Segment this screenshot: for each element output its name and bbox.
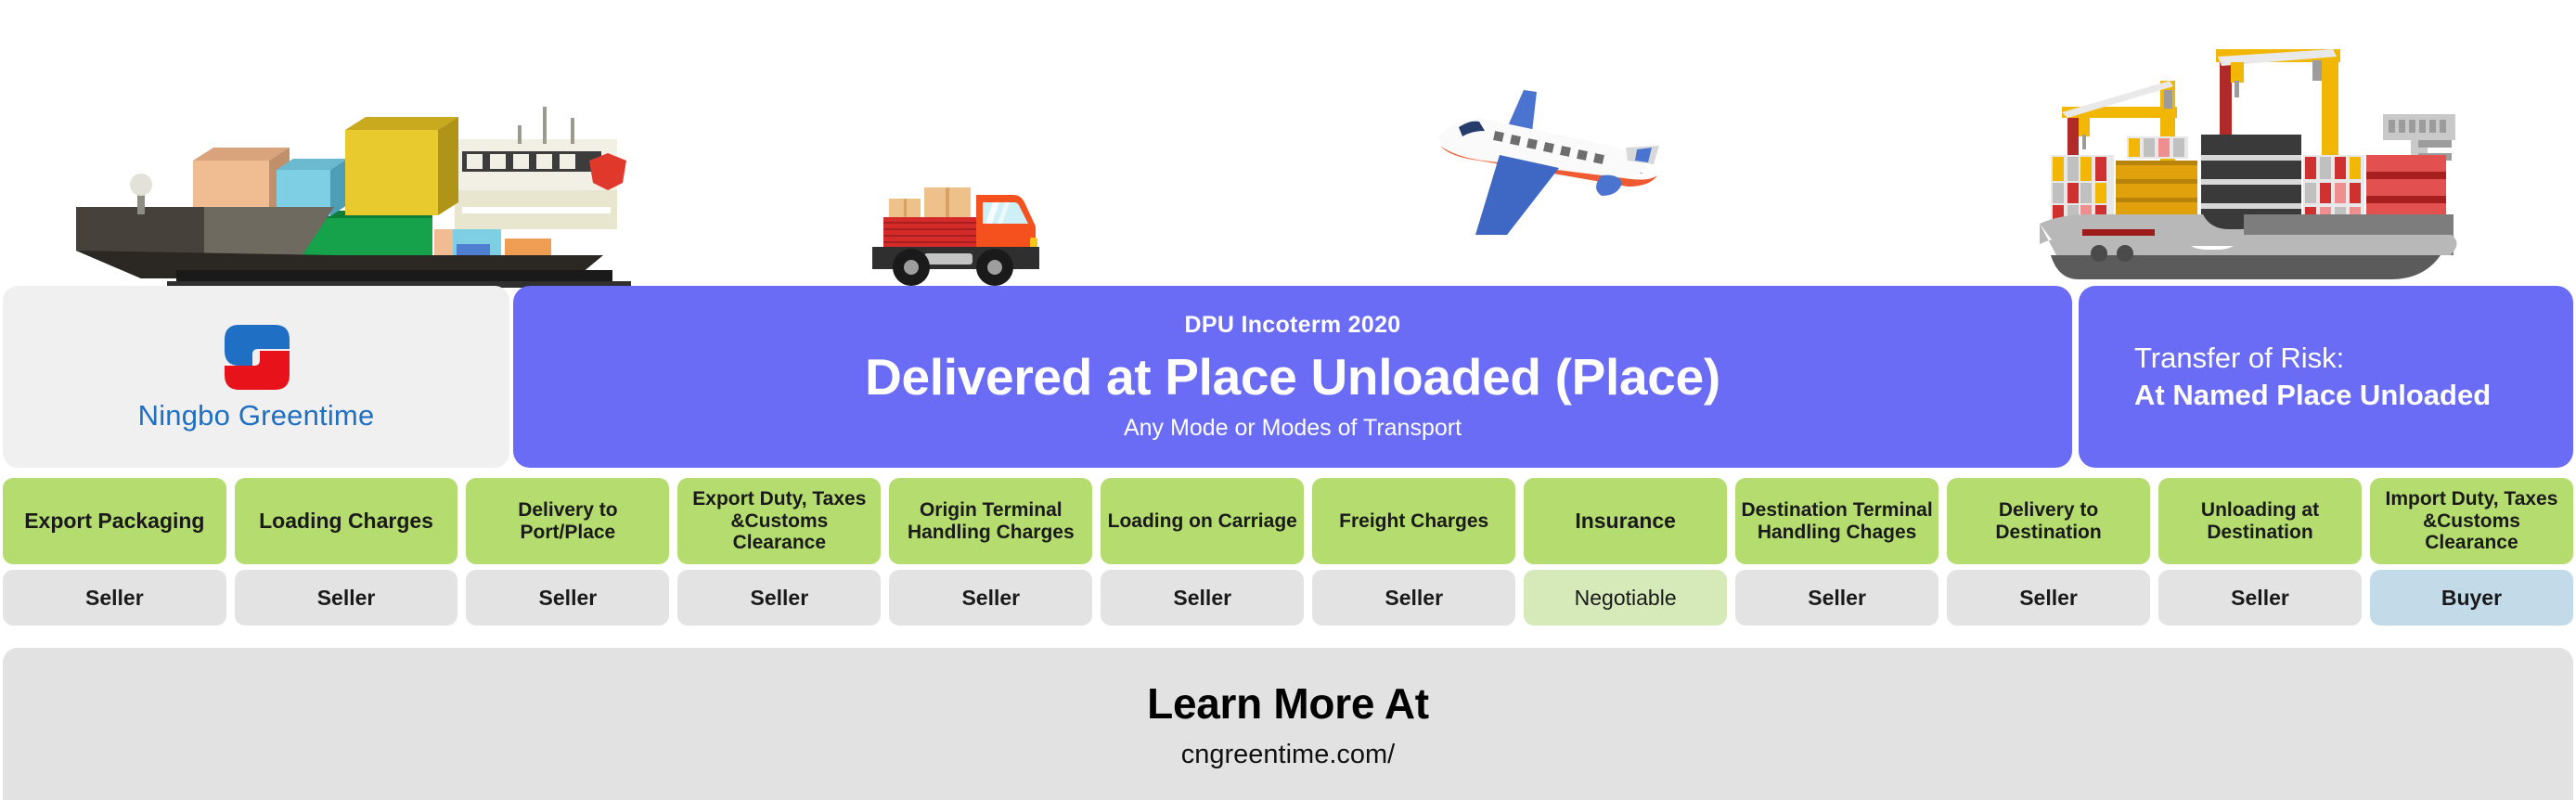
cost-header-cell: Import Duty, Taxes &Customs Clearance [2370, 478, 2573, 564]
footer-url[interactable]: cngreentime.com/ [1181, 740, 1396, 770]
transfer-of-risk-value: At Named Place Unloaded [2134, 377, 2573, 414]
cost-header-cell: Loading Charges [235, 478, 458, 564]
cost-responsibility-table: Export PackagingLoading ChargesDelivery … [0, 478, 2576, 638]
banner-title: Delivered at Place Unloaded (Place) [865, 347, 1720, 406]
cost-table-header-row: Export PackagingLoading ChargesDelivery … [0, 478, 2576, 564]
cost-party-cell: Seller [1312, 570, 1515, 626]
cost-party-cell: Seller [1101, 570, 1304, 626]
cost-party-cell: Buyer [2370, 570, 2573, 626]
cost-header-cell: Insurance [1524, 478, 1727, 564]
cost-party-cell: Seller [1947, 570, 2150, 626]
cargo-ship-with-boxes-illustration [56, 88, 631, 288]
greentime-logo-icon [221, 321, 291, 394]
brand-name: Ningbo Greentime [138, 399, 375, 432]
cost-header-cell: Destination Terminal Handling Chages [1735, 478, 1938, 564]
cost-party-cell: Seller [2158, 570, 2362, 626]
cost-table-party-row: SellerSellerSellerSellerSellerSellerSell… [0, 570, 2576, 626]
cost-party-cell: Seller [235, 570, 458, 626]
cost-header-cell: Delivery to Destination [1947, 478, 2150, 564]
transfer-of-risk-label: Transfer of Risk: [2134, 340, 2573, 377]
brand-logo-panel: Ningbo Greentime [3, 286, 509, 468]
banner-subtitle: Any Mode or Modes of Transport [1124, 415, 1462, 442]
main-banner: DPU Incoterm 2020 Delivered at Place Unl… [513, 286, 2072, 468]
cost-party-cell: Seller [889, 570, 1092, 626]
container-ship-with-cranes-illustration [2014, 23, 2468, 288]
cost-party-cell: Seller [3, 570, 226, 626]
cost-header-cell: Export Duty, Taxes &Customs Clearance [677, 478, 881, 564]
footer-title: Learn More At [1147, 678, 1429, 729]
illustration-band [0, 0, 2576, 288]
cost-party-cell: Seller [1735, 570, 1938, 626]
cost-header-cell: Delivery to Port/Place [466, 478, 669, 564]
banner-eyebrow: DPU Incoterm 2020 [1185, 312, 1401, 339]
cost-header-cell: Loading on Carriage [1101, 478, 1304, 564]
cost-header-cell: Origin Terminal Handling Charges [889, 478, 1092, 564]
transfer-of-risk-panel: Transfer of Risk: At Named Place Unloade… [2079, 286, 2573, 468]
cost-party-cell: Seller [677, 570, 881, 626]
cost-party-cell: Seller [466, 570, 669, 626]
cost-header-cell: Export Packaging [3, 478, 226, 564]
cost-header-cell: Unloading at Destination [2158, 478, 2362, 564]
footer: Learn More At cngreentime.com/ [3, 648, 2573, 800]
cost-party-cell: Negotiable [1524, 570, 1727, 626]
delivery-truck-illustration [854, 167, 1086, 288]
airplane-illustration [1410, 79, 1680, 237]
cost-header-cell: Freight Charges [1312, 478, 1515, 564]
